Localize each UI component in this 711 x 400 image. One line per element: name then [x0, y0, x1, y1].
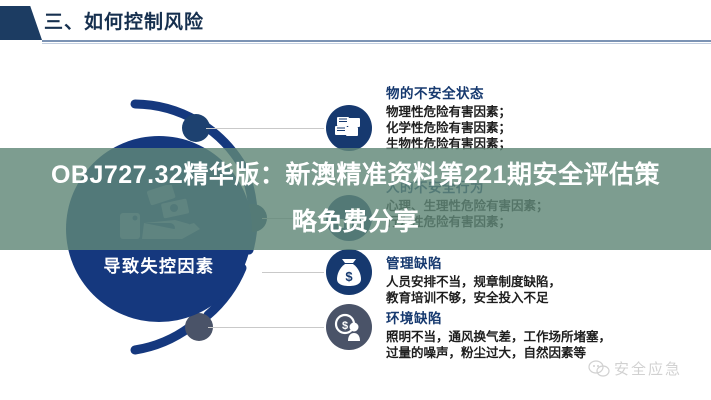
stacked-blocks-icon: [326, 105, 372, 151]
slide-canvas: 三、如何控制风险 导致失控因素: [0, 0, 711, 400]
svg-text:$: $: [345, 269, 353, 284]
item-line: 教育培训不够，安全投入不足: [386, 290, 561, 306]
person-coin-icon: $: [326, 304, 372, 350]
header-tab-icon: [0, 6, 42, 40]
overlay-title: OBJ727.32精华版：新澳精准资料第221期安全评估策略免费分享: [0, 152, 711, 246]
connector-line-1: [206, 128, 324, 129]
item-heading: 环境缺陷: [386, 307, 611, 327]
watermark: 安全应急: [588, 358, 682, 379]
item-line: 过量的噪声，粉尘过大，自然因素等: [386, 345, 611, 361]
item-line: 化学性危险有害因素；: [386, 120, 511, 136]
item-block-4: 环境缺陷 照明不当，通风换气差，工作场所堵塞， 过量的噪声，粉尘过大，自然因素等: [386, 307, 611, 361]
item-line: 照明不当，通风换气差，工作场所堵塞，: [386, 329, 611, 345]
item-block-1: 物的不安全状态 物理性危险有害因素； 化学性危险有害因素； 生物性危险有害因素；: [386, 82, 511, 152]
item-heading: 管理缺陷: [386, 252, 561, 272]
hub-label: 导致失控因素: [66, 252, 252, 277]
money-bag-icon: $: [326, 249, 372, 295]
page-title: 三、如何控制风险: [44, 7, 204, 34]
header-divider-thin: [42, 43, 711, 44]
watermark-text: 安全应急: [614, 358, 682, 379]
connector-line-4: [208, 327, 324, 328]
item-line: 物理性危险有害因素；: [386, 104, 511, 120]
slide-header: 三、如何控制风险: [0, 0, 711, 46]
wechat-icon: [588, 360, 610, 378]
item-line: 人员安排不当，规章制度缺陷，: [386, 274, 561, 290]
header-divider: [42, 40, 711, 42]
svg-text:$: $: [342, 320, 348, 332]
item-heading: 物的不安全状态: [386, 82, 511, 102]
item-block-3: 管理缺陷 人员安排不当，规章制度缺陷， 教育培训不够，安全投入不足: [386, 252, 561, 306]
connector-line-3: [262, 272, 324, 273]
